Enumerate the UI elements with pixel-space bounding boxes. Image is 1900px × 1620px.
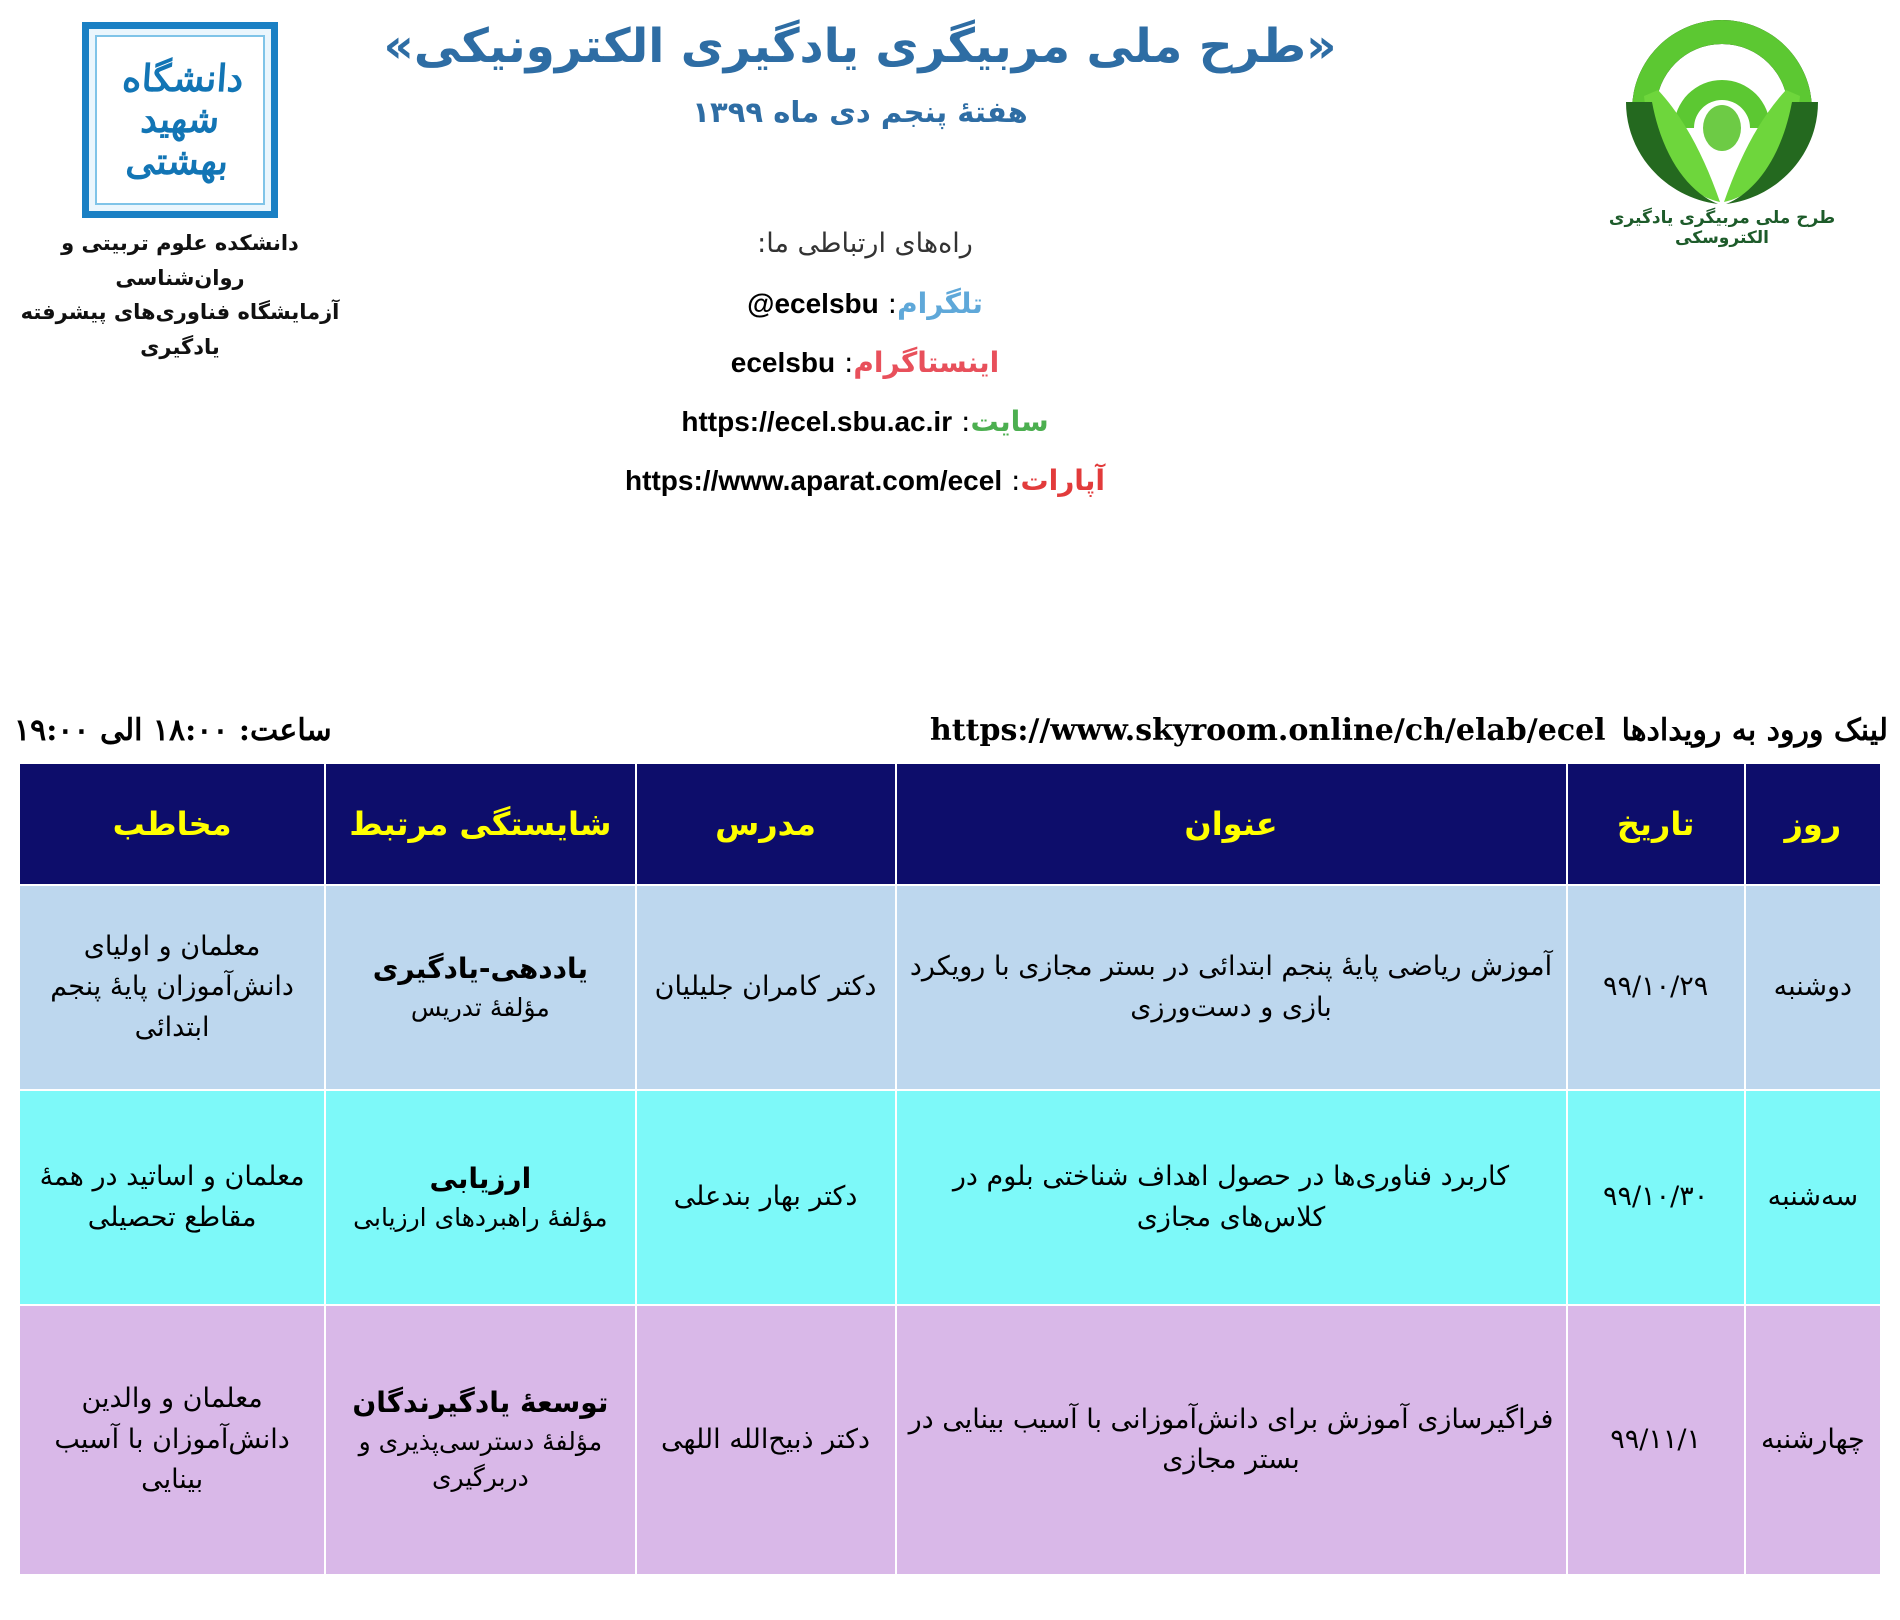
faculty-name-line2: آزمایشگاه فناوری‌های پیشرفته یادگیری	[0, 295, 360, 364]
column-header-title[interactable]: عنوان	[896, 763, 1567, 885]
title-block: «طرح ملی مربیگری یادگیری الکترونیکی» هفت…	[360, 18, 1360, 129]
ecel-logo-label: طرح ملی مربیگری یادگیری الکتروسکی	[1562, 208, 1882, 248]
instagram-handle[interactable]: ecelsbu	[731, 347, 835, 378]
contact-row-instagram: اینستاگرام: ecelsbu	[360, 346, 1370, 379]
competency-main: یاددهی-یادگیری	[336, 949, 624, 990]
cell-competency: یاددهی-یادگیری مؤلفهٔ تدریس	[325, 885, 635, 1090]
column-header-audience[interactable]: مخاطب	[19, 763, 325, 885]
cell-teacher: دکتر ذبیح‌الله اللهی	[636, 1305, 896, 1575]
cell-teacher: دکتر بهار بندعلی	[636, 1090, 896, 1305]
event-link-url[interactable]: https://www.skyroom.online/ch/elab/ecel	[930, 713, 1606, 748]
event-link-label: لینک ورود به رویدادها	[1622, 713, 1900, 748]
competency-sub: مؤلفهٔ تدریس	[336, 990, 624, 1026]
competency-main: ارزیابی	[336, 1159, 624, 1200]
sbu-logo-icon: دانشگاه شهید بهشتی	[82, 22, 278, 218]
page-title: «طرح ملی مربیگری یادگیری الکترونیکی»	[360, 18, 1360, 77]
table-header-row: روز تاریخ عنوان مدرس شایستگی مرتبط مخاطب	[19, 763, 1881, 885]
ecel-branding: طرح ملی مربیگری یادگیری الکتروسکی	[1562, 6, 1882, 248]
aparat-label: آپارات	[1020, 464, 1104, 497]
university-branding: دانشگاه شهید بهشتی دانشکده علوم تربیتی و…	[0, 10, 360, 365]
aparat-url[interactable]: https://www.aparat.com/ecel	[625, 465, 1002, 496]
cell-competency: ارزیابی مؤلفهٔ راهبردهای ارزیابی	[325, 1090, 635, 1305]
cell-date: ۹۹/۱۰/۳۰	[1567, 1090, 1745, 1305]
competency-sub: مؤلفهٔ راهبردهای ارزیابی	[336, 1200, 624, 1236]
cell-title: آموزش ریاضی پایهٔ پنجم ابتدائی در بستر م…	[896, 885, 1567, 1090]
aparat-separator: :	[1002, 464, 1020, 497]
contact-row-telegram: تلگرام: @ecelsbu	[360, 287, 1370, 320]
schedule-table: روز تاریخ عنوان مدرس شایستگی مرتبط مخاطب…	[18, 762, 1882, 1576]
competency-main: توسعهٔ یادگیرندگان	[336, 1383, 624, 1424]
column-header-competency[interactable]: شایستگی مرتبط	[325, 763, 635, 885]
site-label: سایت	[970, 405, 1048, 438]
cell-competency: توسعهٔ یادگیرندگان مؤلفهٔ دسترسی‌پذیری و…	[325, 1305, 635, 1575]
cell-date: ۹۹/۱۱/۱	[1567, 1305, 1745, 1575]
instagram-label: اینستاگرام	[853, 346, 999, 379]
event-time: ساعت: ۱۸:۰۰ الی ۱۹:۰۰	[0, 713, 332, 748]
table-row[interactable]: چهارشنبه ۹۹/۱۱/۱ فراگیرسازی آموزش برای د…	[19, 1305, 1881, 1575]
contact-row-aparat: آپارات: https://www.aparat.com/ecel	[360, 464, 1370, 497]
cell-title: فراگیرسازی آموزش برای دانش‌آموزانی با آس…	[896, 1305, 1567, 1575]
site-separator: :	[952, 405, 970, 438]
cell-audience: معلمان و والدین دانش‌آموزان با آسیب بینا…	[19, 1305, 325, 1575]
telegram-label: تلگرام	[897, 287, 983, 320]
cell-day: دوشنبه	[1745, 885, 1881, 1090]
table-row[interactable]: دوشنبه ۹۹/۱۰/۲۹ آموزش ریاضی پایهٔ پنجم ا…	[19, 885, 1881, 1090]
event-link-bar: لینک ورود به رویدادها https://www.skyroo…	[0, 700, 1900, 760]
cell-audience: معلمان و اولیای دانش‌آموزان پایهٔ پنجم ا…	[19, 885, 325, 1090]
cell-audience: معلمان و اساتید در همهٔ مقاطع تحصیلی	[19, 1090, 325, 1305]
cell-title: کاربرد فناوری‌ها در حصول اهداف شناختی بل…	[896, 1090, 1567, 1305]
instagram-separator: :	[835, 346, 853, 379]
telegram-separator: :	[879, 287, 897, 320]
column-header-day[interactable]: روز	[1745, 763, 1881, 885]
site-url[interactable]: https://ecel.sbu.ac.ir	[681, 406, 952, 437]
cell-teacher: دکتر کامران جلیلیان	[636, 885, 896, 1090]
table-row[interactable]: سه‌شنبه ۹۹/۱۰/۳۰ کاربرد فناوری‌ها در حصو…	[19, 1090, 1881, 1305]
ecel-logo-icon	[1592, 6, 1852, 206]
cell-day: چهارشنبه	[1745, 1305, 1881, 1575]
contact-row-site: سایت: https://ecel.sbu.ac.ir	[360, 405, 1370, 438]
page-subtitle: هفتهٔ پنجم دی ماه ۱۳۹۹	[360, 95, 1360, 129]
contact-heading: راه‌های ارتباطی ما:	[360, 228, 1370, 259]
contact-block: راه‌های ارتباطی ما: تلگرام: @ecelsbu این…	[360, 228, 1370, 523]
telegram-handle[interactable]: @ecelsbu	[747, 288, 879, 319]
column-header-date[interactable]: تاریخ	[1567, 763, 1745, 885]
competency-sub: مؤلفهٔ دسترسی‌پذیری و دربرگیری	[336, 1424, 624, 1497]
column-header-teacher[interactable]: مدرس	[636, 763, 896, 885]
faculty-name-line1: دانشکده علوم تربیتی و روان‌شناسی	[0, 226, 360, 295]
cell-day: سه‌شنبه	[1745, 1090, 1881, 1305]
cell-date: ۹۹/۱۰/۲۹	[1567, 885, 1745, 1090]
sbu-logo-label: دانشگاه شهید بهشتی	[85, 58, 276, 182]
